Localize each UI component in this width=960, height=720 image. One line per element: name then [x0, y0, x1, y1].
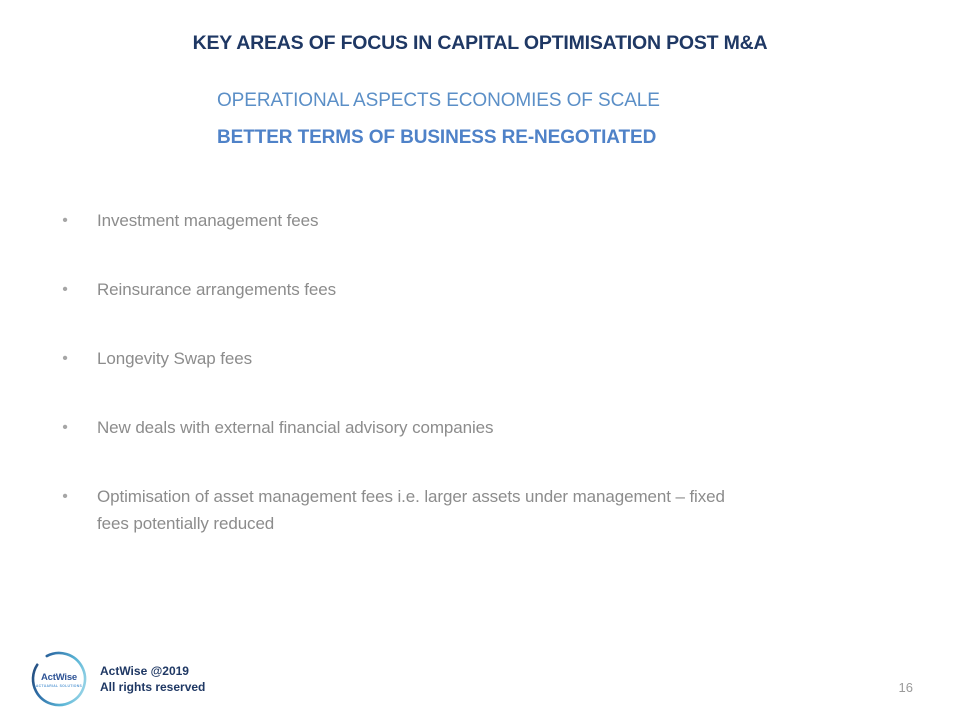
- subtitle-block: OPERATIONAL ASPECTS ECONOMIES OF SCALE B…: [217, 88, 737, 150]
- copyright-line-2: All rights reserved: [100, 679, 205, 695]
- bullet-icon: •: [60, 282, 70, 298]
- bullet-list: • Investment management fees • Reinsuran…: [60, 207, 760, 552]
- list-item: • New deals with external financial advi…: [60, 414, 760, 483]
- copyright-text: ActWise @2019 All rights reserved: [100, 663, 205, 695]
- list-item: • Optimisation of asset management fees …: [60, 483, 760, 552]
- list-item: • Investment management fees: [60, 207, 760, 276]
- list-item-label: Longevity Swap fees: [97, 349, 252, 368]
- copyright-line-1: ActWise @2019: [100, 663, 205, 679]
- bullet-icon: •: [60, 489, 70, 505]
- list-item-label: Optimisation of asset management fees i.…: [97, 487, 725, 533]
- slide: KEY AREAS OF FOCUS IN CAPITAL OPTIMISATI…: [0, 0, 960, 720]
- page-title: KEY AREAS OF FOCUS IN CAPITAL OPTIMISATI…: [0, 32, 960, 55]
- bullet-icon: •: [60, 351, 70, 367]
- list-item: • Longevity Swap fees: [60, 345, 760, 414]
- page-number: 16: [899, 680, 913, 695]
- bullet-icon: •: [60, 420, 70, 436]
- list-item: • Reinsurance arrangements fees: [60, 276, 760, 345]
- subtitle-line-2: BETTER TERMS OF BUSINESS RE-NEGOTIATED: [217, 125, 737, 150]
- list-item-label: Reinsurance arrangements fees: [97, 280, 336, 299]
- list-item-label: New deals with external financial adviso…: [97, 418, 493, 437]
- actwise-logo-icon: ActWise ACTUARIAL SOLUTIONS: [28, 648, 90, 710]
- list-item-label: Investment management fees: [97, 211, 318, 230]
- subtitle-line-1: OPERATIONAL ASPECTS ECONOMIES OF SCALE: [217, 88, 737, 113]
- bullet-icon: •: [60, 213, 70, 229]
- footer: ActWise ACTUARIAL SOLUTIONS ActWise @201…: [28, 648, 205, 710]
